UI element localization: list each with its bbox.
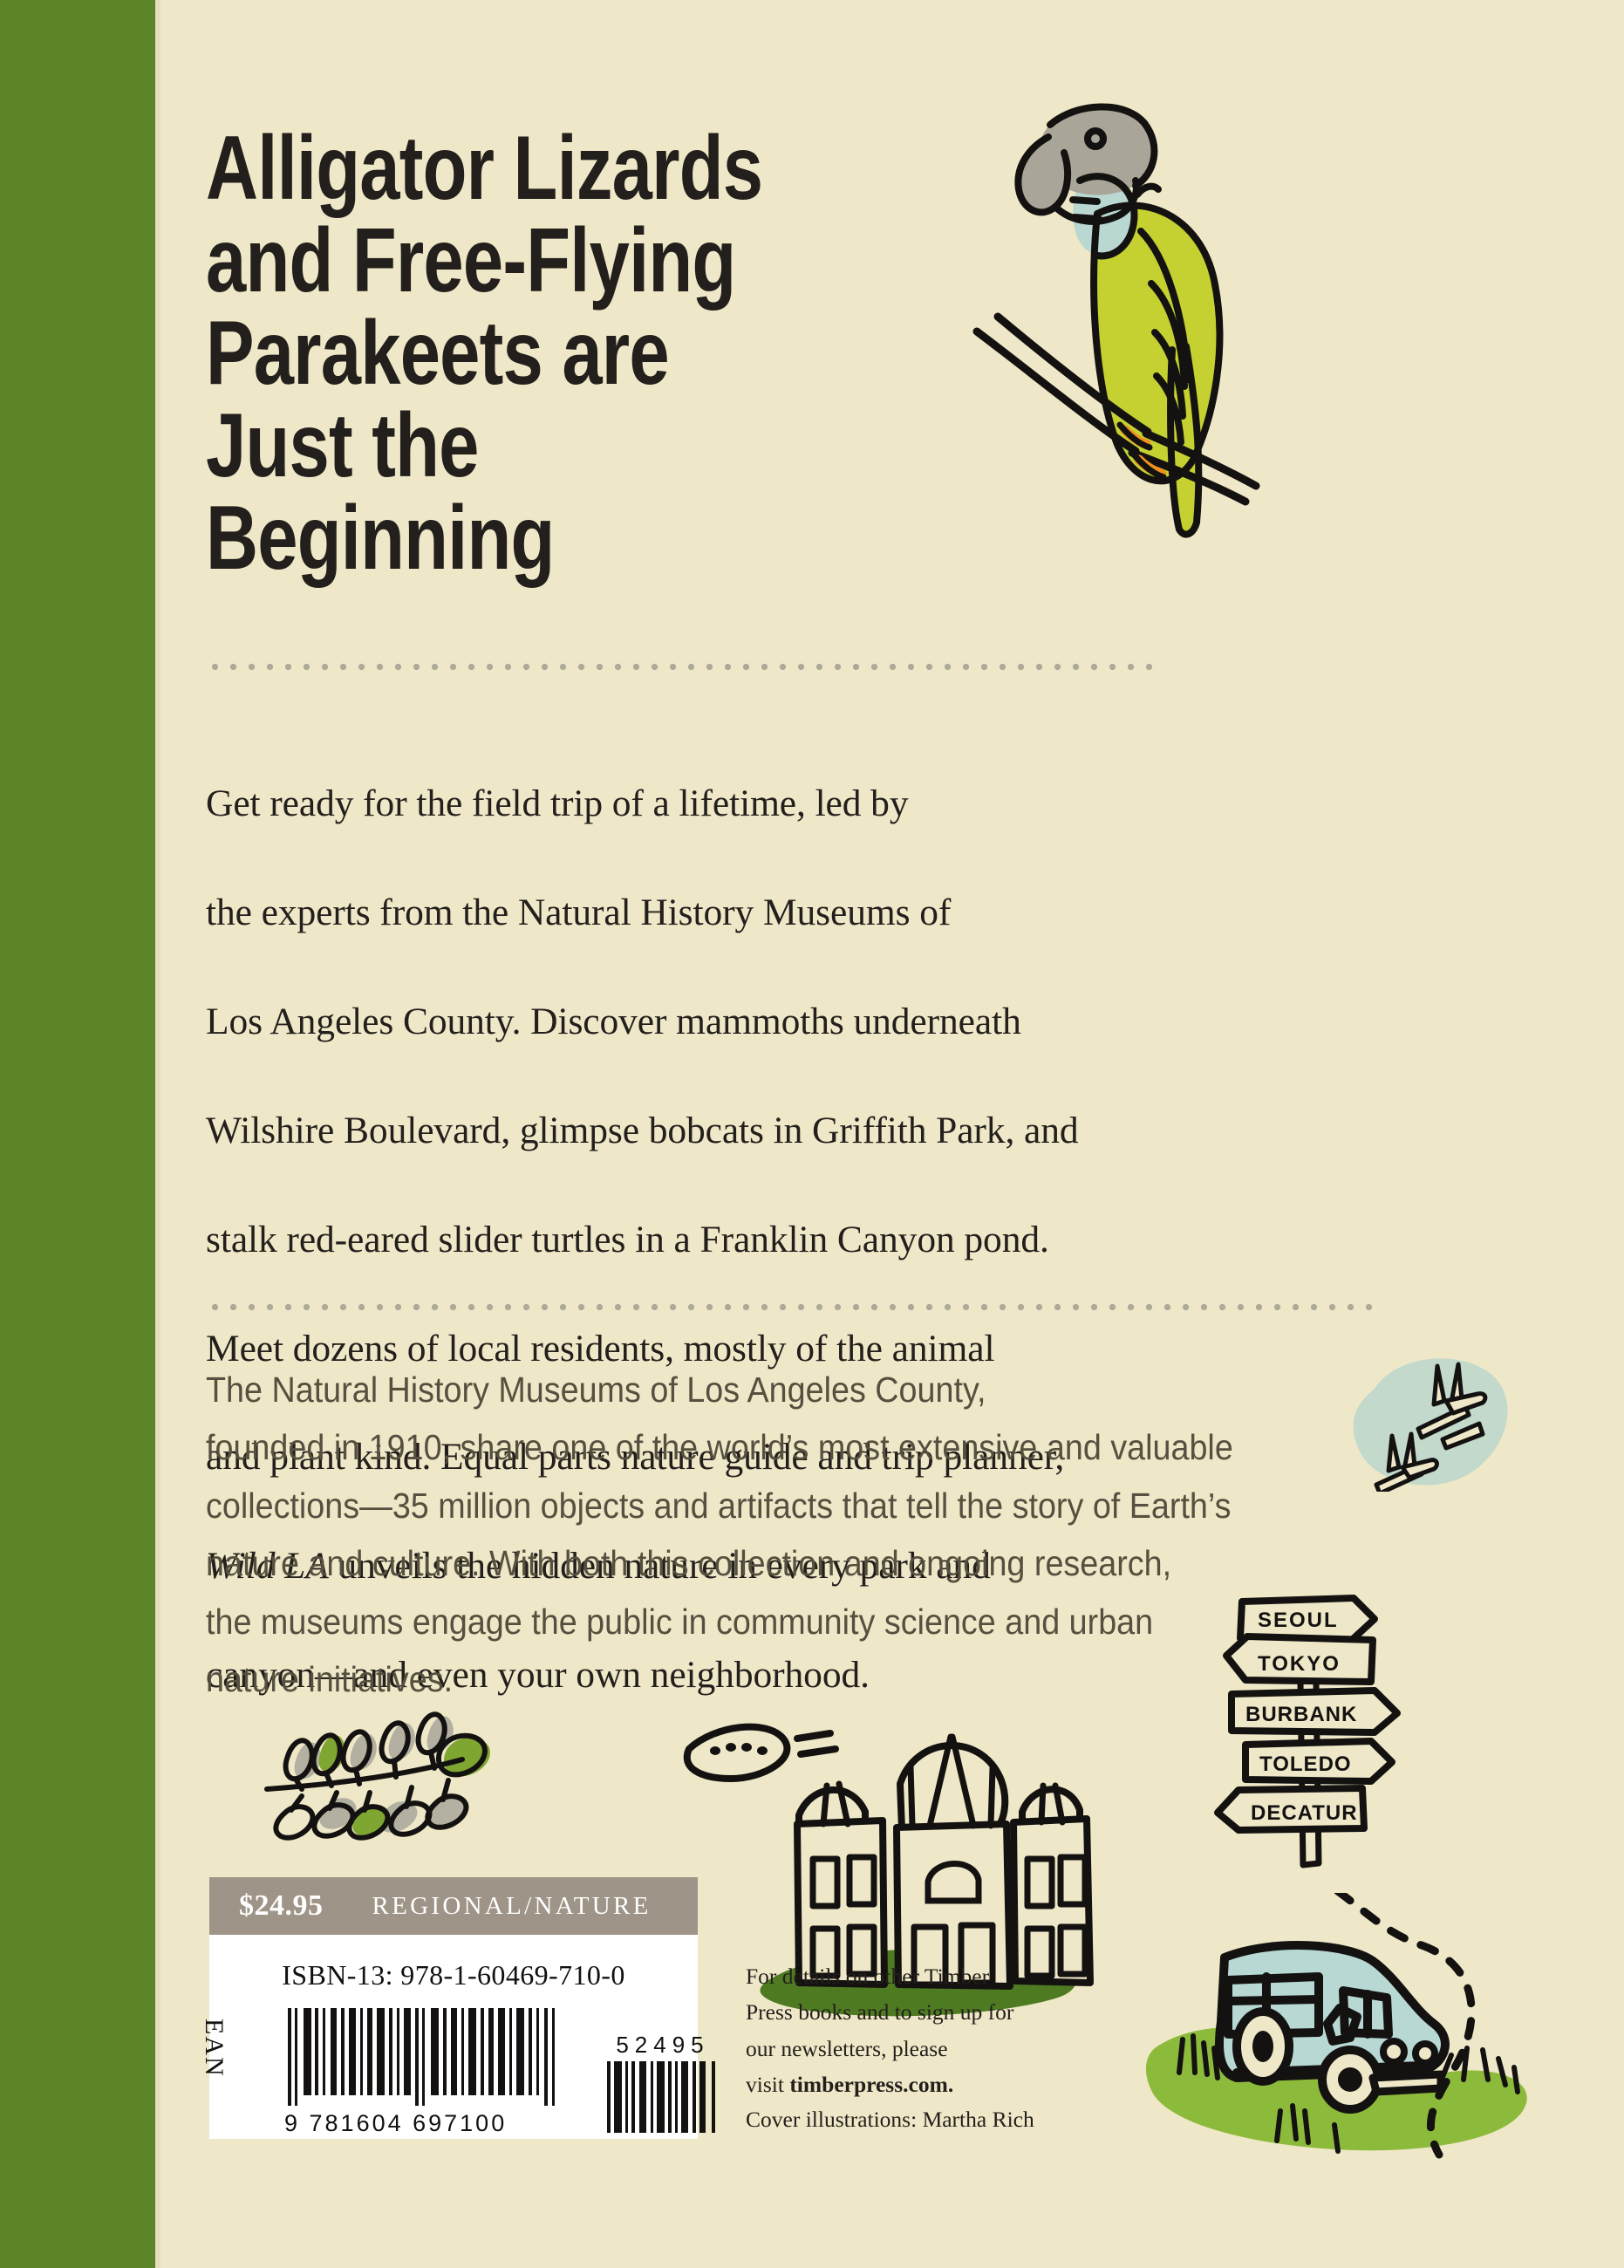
blurb-line-2: the experts from the Natural History Mus…	[206, 891, 951, 933]
divider-rule-top	[206, 663, 1162, 671]
van-illustration	[1134, 1893, 1544, 2194]
category-label: REGIONAL/NATURE	[372, 1892, 652, 1921]
dragonflies-illustration	[1334, 1343, 1518, 1496]
cover-title: Alligator Lizards and Free-Flying Parake…	[206, 122, 834, 584]
publisher-website: timberpress.com.	[789, 2072, 953, 2097]
blurb-line-4: Wilshire Boulevard, glimpse bobcats in G…	[206, 1110, 1079, 1151]
barcode-panel: ISBN-13: 978-1-60469-710-0 EAN	[209, 1935, 698, 2139]
svg-text:SEOUL: SEOUL	[1258, 1609, 1339, 1632]
publisher-note: For details on other Timber Press books …	[746, 1958, 1095, 2102]
svg-text:DECATUR: DECATUR	[1251, 1801, 1358, 1825]
leaf-branch-illustration	[262, 1705, 515, 1854]
barcode-digits: 9 781604 697100	[284, 2110, 572, 2137]
svg-text:BURBANK: BURBANK	[1245, 1703, 1357, 1726]
barcode-addon: 52495	[605, 2032, 720, 2137]
signpost-illustration: SEOUL TOKYO BURBANK TOLEDO DECATUR	[1212, 1588, 1413, 1880]
isbn-price-block: $24.95 REGIONAL/NATURE ISBN-13: 978-1-60…	[209, 1877, 698, 2139]
price-label: $24.95	[239, 1889, 324, 1923]
museum-description: The Natural History Museums of Los Angel…	[206, 1361, 1249, 1708]
barcode-main: 9 781604 697100	[284, 2008, 572, 2137]
isbn-number: ISBN-13: 978-1-60469-710-0	[209, 1959, 698, 1991]
price-bar: $24.95 REGIONAL/NATURE	[209, 1877, 698, 1935]
svg-text:TOKYO: TOKYO	[1258, 1652, 1341, 1676]
parakeet-illustration	[968, 83, 1282, 550]
barcode-bars-row: 9 781604 697100 52495	[284, 2008, 720, 2137]
spine-edge-highlight	[155, 0, 160, 2268]
book-back-cover: Alligator Lizards and Free-Flying Parake…	[0, 0, 1624, 2268]
blurb-line-3: Los Angeles County. Discover mammoths un…	[206, 1001, 1021, 1042]
divider-rule-middle	[206, 1303, 1373, 1311]
blurb-line-1: Get ready for the field trip of a lifeti…	[206, 782, 909, 824]
addon-digits: 52495	[605, 2032, 720, 2059]
svg-text:TOLEDO: TOLEDO	[1259, 1752, 1352, 1776]
blurb-line-5: stalk red-eared slider turtles in a Fran…	[206, 1219, 1049, 1260]
ean-label: EAN	[199, 2019, 229, 2078]
cover-illustration-credit: Cover illustrations: Martha Rich	[746, 2107, 1112, 2133]
spine-color-band	[0, 0, 155, 2268]
